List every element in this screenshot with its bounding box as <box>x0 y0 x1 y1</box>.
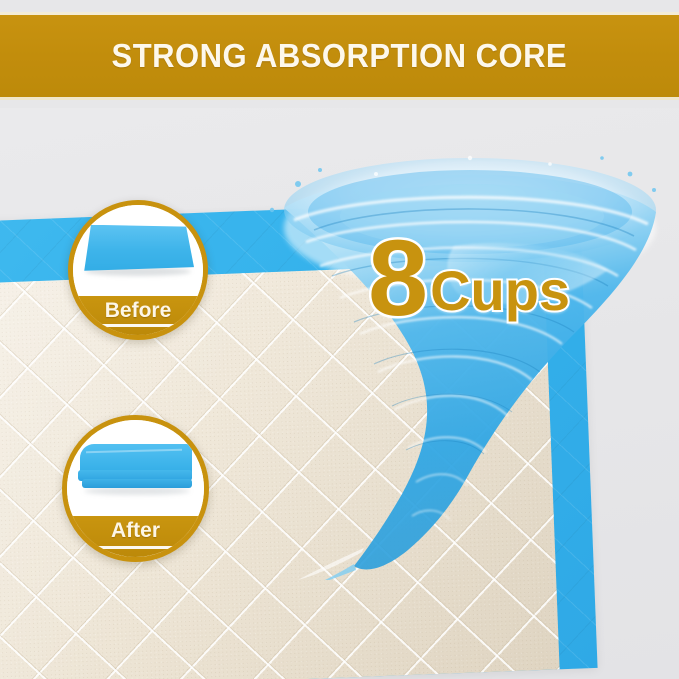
page-title: STRONG ABSORPTION CORE <box>112 37 568 75</box>
badge-after-band: After <box>67 516 204 557</box>
badge-before-label: Before <box>105 299 172 323</box>
badge-before-band: Before <box>73 296 203 335</box>
folded-pad-shadow <box>84 487 190 495</box>
folded-blue-pad-icon <box>78 438 194 500</box>
badge-after-label: After <box>111 519 160 543</box>
badge-before[interactable]: Before <box>68 200 208 340</box>
folded-pad-layer-bottom <box>82 479 192 488</box>
badge-after-underline <box>96 546 175 549</box>
product-feature-poster: 8 Cups Before After <box>0 0 679 679</box>
badge-after[interactable]: After <box>62 415 209 562</box>
badge-before-underline <box>100 324 175 327</box>
cups-number: 8 <box>368 228 428 327</box>
header-banner-area: STRONG ABSORPTION CORE <box>0 0 679 108</box>
cups-callout: 8 Cups <box>368 228 570 327</box>
header-banner: STRONG ABSORPTION CORE <box>0 12 679 100</box>
flat-pad-surface <box>82 225 194 271</box>
cups-unit-label: Cups <box>430 263 570 319</box>
flat-blue-pad-icon <box>82 225 194 279</box>
badge-after-image <box>67 420 204 519</box>
badge-before-image <box>73 205 203 299</box>
